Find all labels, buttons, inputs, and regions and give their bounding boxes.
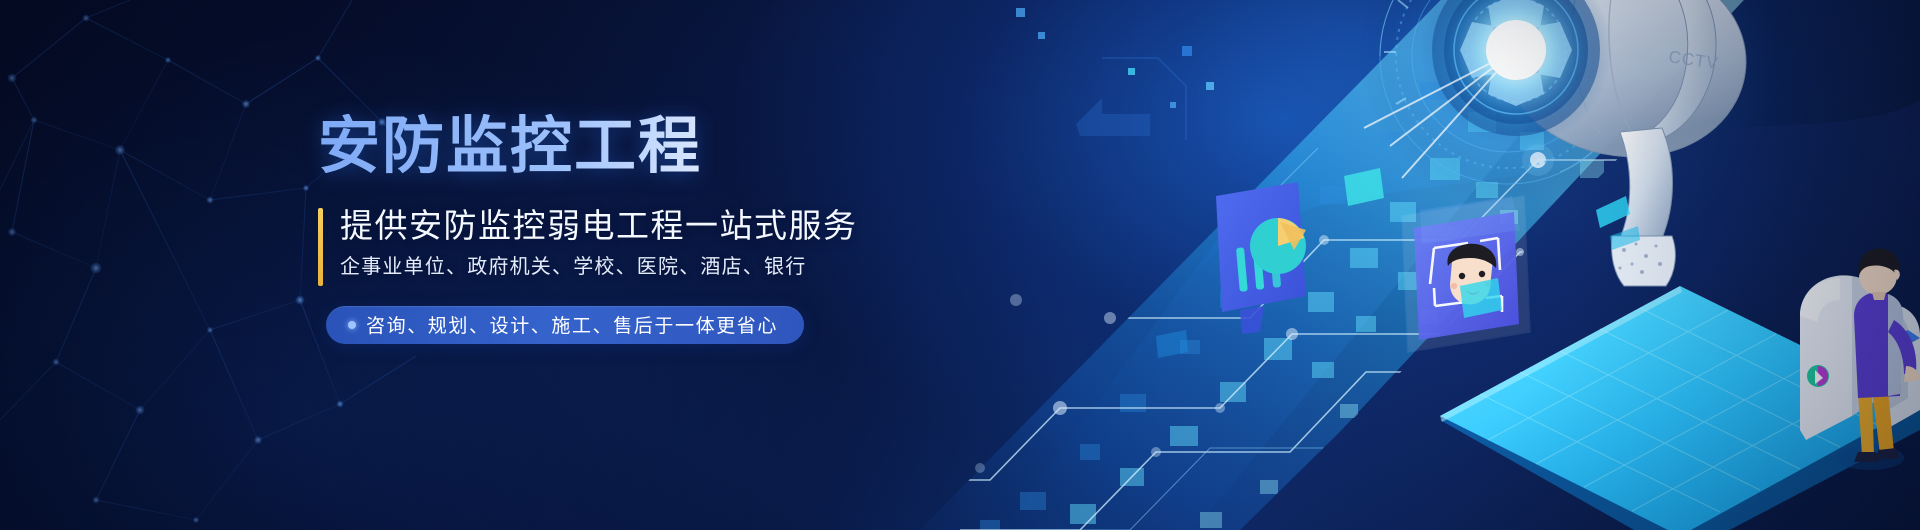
accent-bar: [318, 208, 323, 286]
pie-chart-icon: [1250, 218, 1306, 274]
face-recognition-panel: [1402, 196, 1530, 352]
gate-logo-icon: [1807, 365, 1829, 387]
bullet-dot-icon: [348, 321, 356, 329]
subtitle-group: 提供安防监控弱电工程一站式服务 企事业单位、政府机关、学校、医院、酒店、银行: [318, 206, 1018, 280]
security-monitoring-banner: CCTV: [0, 0, 1920, 530]
service-highlight-label: 咨询、规划、设计、施工、售后于一体更省心: [366, 311, 778, 338]
subtitle-secondary: 企事业单位、政府机关、学校、医院、酒店、银行: [340, 254, 1018, 280]
subtitle-primary: 提供安防监控弱电工程一站式服务: [340, 206, 1018, 246]
service-highlight-pill[interactable]: 咨询、规划、设计、施工、售后于一体更省心: [326, 306, 804, 344]
security-system-illustration: CCTV: [920, 0, 1920, 530]
page-title: 安防监控工程: [318, 114, 1018, 180]
banner-copy-block: 安防监控工程 提供安防监控弱电工程一站式服务 企事业单位、政府机关、学校、医院、…: [318, 114, 1018, 344]
